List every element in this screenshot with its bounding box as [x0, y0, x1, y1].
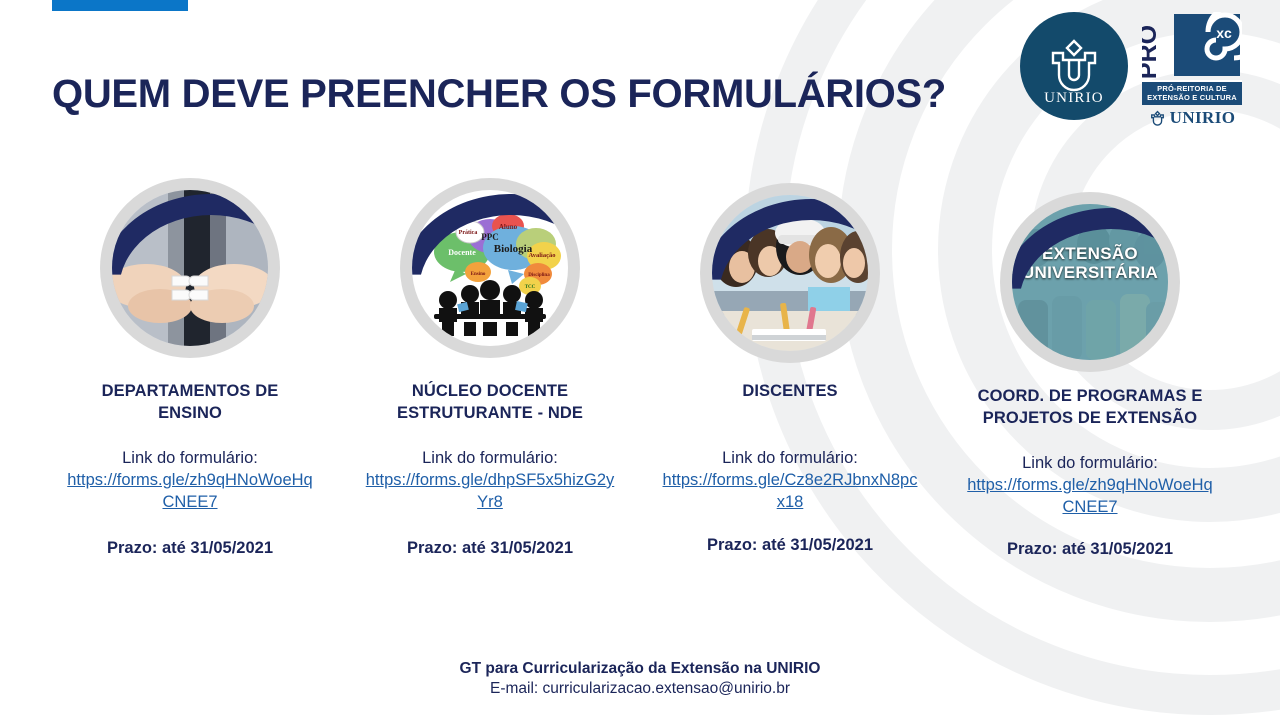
photo-art-2: Aluno Prática PPC Biologia Docente Avali… [412, 190, 568, 346]
form-link[interactable]: https://forms.gle/zh9qHNoWoeHqCNEE7 [67, 471, 312, 511]
footer: GT para Curricularização da Extensão na … [0, 660, 1280, 698]
svg-text:Avaliação: Avaliação [529, 252, 556, 259]
card-caption: DEPARTAMENTOS DE ENSINO [40, 381, 340, 425]
proexc-logo: PRO xc PRÓ-REITORIA DE EXTENSÃO E CULTUR… [1142, 12, 1242, 128]
card-caption: COORD. DE PROGRAMAS E PROJETOS DE EXTENS… [940, 386, 1240, 430]
unirio-small-emblem-icon [1149, 110, 1166, 127]
caption-line-2: PROJETOS DE EXTENSÃO [952, 408, 1228, 430]
slide-canvas: QUEM DEVE PREENCHER OS FORMULÁRIOS? UNIR… [0, 0, 1280, 720]
footer-line-1: GT para Curricularização da Extensão na … [0, 660, 1280, 678]
unirio-seal-logo: UNIRIO [1020, 12, 1128, 120]
proexc-band-line1: PRÓ-REITORIA DE [1142, 84, 1242, 93]
svg-text:TCC: TCC [525, 285, 536, 290]
proexc-unirio-text: UNIRIO [1170, 108, 1236, 128]
caption-line-1: DEPARTAMENTOS DE [52, 381, 328, 403]
circle-image-2: Aluno Prática PPC Biologia Docente Avali… [400, 178, 580, 358]
proexc-graphic-icon: PRO xc [1142, 12, 1242, 80]
proexc-band: PRÓ-REITORIA DE EXTENSÃO E CULTURA [1142, 80, 1242, 105]
form-link-lead: Link do formulário: [62, 447, 318, 469]
svg-text:xc: xc [1216, 25, 1232, 41]
circle-image-4: EXTENSÃO UNIVERSITÁRIA [1000, 192, 1180, 372]
proexc-unirio-wordmark: UNIRIO [1149, 108, 1236, 128]
form-link[interactable]: https://forms.gle/Cz8e2RJbnxN8pcx18 [663, 471, 918, 511]
form-link-lead: Link do formulário: [362, 447, 618, 469]
accent-bar [52, 0, 188, 11]
photo-overlay-label: EXTENSÃO UNIVERSITÁRIA [1000, 244, 1180, 283]
footer-line-2: E-mail: curricularizacao.extensao@unirio… [0, 680, 1280, 698]
circle-image-1 [100, 178, 280, 358]
svg-text:PPC: PPC [481, 232, 499, 242]
caption-line-1: DISCENTES [652, 381, 928, 403]
svg-text:Aluno: Aluno [499, 223, 518, 231]
form-link-block: Link do formulário: https://forms.gle/zh… [40, 447, 340, 514]
meeting-silhouettes-speech-bubbles-photo: Aluno Prática PPC Biologia Docente Avali… [412, 190, 568, 346]
form-link-lead: Link do formulário: [662, 447, 918, 469]
proexc-mark-icon: PRO xc [1142, 12, 1242, 80]
circle-image-3 [700, 183, 880, 363]
photo-art-3 [712, 195, 868, 351]
form-link-lead: Link do formulário: [962, 452, 1218, 474]
caption-line-1: COORD. DE PROGRAMAS E [952, 386, 1228, 408]
deadline-text: Prazo: até 31/05/2021 [640, 536, 940, 555]
svg-text:Ensino: Ensino [471, 272, 486, 277]
svg-text:Docente: Docente [448, 248, 476, 257]
card-coord-programas-projetos-extensao: EXTENSÃO UNIVERSITÁRIA COORD. DE PROGRAM… [940, 175, 1240, 559]
logo-group: UNIRIO PRO xc PRÓ-REITORIA DE EXTENSÃO E… [1020, 12, 1242, 128]
deadline-text: Prazo: até 31/05/2021 [940, 540, 1240, 559]
svg-text:PRO: PRO [1142, 25, 1162, 79]
card-caption: DISCENTES [640, 381, 940, 403]
deadline-text: Prazo: até 31/05/2021 [40, 539, 340, 558]
photo-art-1 [112, 190, 268, 346]
unirio-seal-wordmark: UNIRIO [1044, 90, 1104, 107]
deadline-text: Prazo: até 31/05/2021 [340, 539, 640, 558]
svg-text:Disciplina: Disciplina [528, 273, 550, 278]
card-departamentos-de-ensino: DEPARTAMENTOS DE ENSINO Link do formulár… [40, 175, 340, 559]
form-link-block: Link do formulário: https://forms.gle/Cz… [640, 447, 940, 514]
overlay-line-1: EXTENSÃO [1000, 244, 1180, 263]
caption-line-2: ESTRUTURANTE - NDE [352, 403, 628, 425]
form-link[interactable]: https://forms.gle/zh9qHNoWoeHqCNEE7 [967, 476, 1212, 516]
hands-with-puzzle-pieces-photo [112, 190, 268, 346]
svg-text:Prática: Prática [459, 230, 478, 236]
form-link-block: Link do formulário: https://forms.gle/dh… [340, 447, 640, 514]
page-title: QUEM DEVE PREENCHER OS FORMULÁRIOS? [52, 72, 946, 117]
card-caption: NÚCLEO DOCENTE ESTRUTURANTE - NDE [340, 381, 640, 425]
caption-line-2: ENSINO [52, 403, 328, 425]
card-discentes: DISCENTES Link do formulário: https://fo… [640, 175, 940, 559]
unirio-emblem-icon [1043, 35, 1105, 97]
proexc-band-line2: EXTENSÃO E CULTURA [1142, 93, 1242, 102]
card-nucleo-docente-estruturante: Aluno Prática PPC Biologia Docente Avali… [340, 175, 640, 559]
overlay-line-2: UNIVERSITÁRIA [1000, 263, 1180, 282]
caption-line-1: NÚCLEO DOCENTE [352, 381, 628, 403]
svg-text:Biologia: Biologia [494, 243, 533, 255]
form-link[interactable]: https://forms.gle/dhpSF5x5hizG2yYr8 [366, 471, 615, 511]
form-link-block: Link do formulário: https://forms.gle/zh… [940, 452, 1240, 519]
cards-row: DEPARTAMENTOS DE ENSINO Link do formulár… [40, 175, 1240, 559]
students-studying-photo [712, 195, 868, 351]
